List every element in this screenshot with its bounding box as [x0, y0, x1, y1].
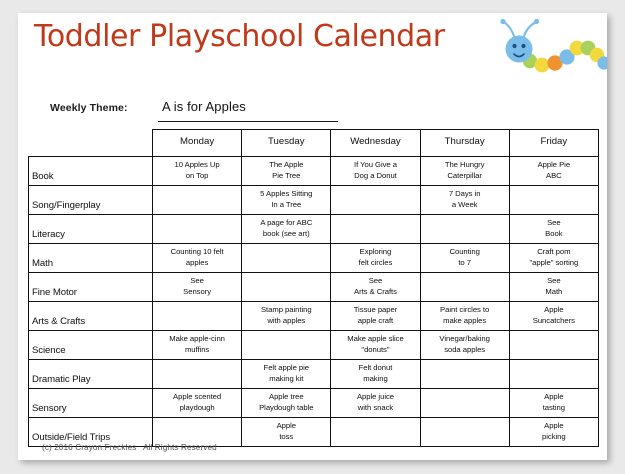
cell-line: Make apple-cinn — [155, 334, 239, 344]
calendar-cell[interactable]: Apple juicewith snack — [331, 388, 420, 417]
cell-line: See — [512, 276, 596, 286]
calendar-cell[interactable]: Stamp paintingwith apples — [242, 301, 331, 330]
calendar-cell[interactable]: Apple treePlaydough table — [242, 388, 331, 417]
weekly-theme-field[interactable]: A is for Apples — [158, 97, 338, 122]
row-label-science: Science — [29, 330, 153, 359]
calendar-header-tuesday: Tuesday — [242, 130, 331, 157]
calendar-cell[interactable]: Apple PieABC — [509, 156, 598, 185]
calendar-cell[interactable]: AppleSuncatchers — [509, 301, 598, 330]
cell-line: Pie Tree — [244, 171, 328, 181]
calendar-cell[interactable] — [153, 359, 242, 388]
cell-line: Book — [512, 229, 596, 239]
copyright-footer: (c) 2016 Crayon Freckles All Rights Rese… — [42, 443, 217, 452]
calendar-cell[interactable]: Tissue paperapple craft — [331, 301, 420, 330]
page-title: Toddler Playschool Calendar — [34, 19, 445, 54]
cell-line: Stamp painting — [244, 305, 328, 315]
table-row: Fine MotorSeeSensorySeeArts & CraftsSeeM… — [29, 272, 599, 301]
calendar-header-wednesday: Wednesday — [331, 130, 420, 157]
cell-line: A page for ABC — [244, 218, 328, 228]
cell-line: The Apple — [244, 160, 328, 170]
calendar-cell[interactable] — [242, 330, 331, 359]
calendar-cell[interactable] — [153, 417, 242, 446]
cell-line: felt circles — [333, 258, 417, 268]
cell-line: Apple — [244, 421, 328, 431]
row-label-dramatic-play: Dramatic Play — [29, 359, 153, 388]
calendar-cell[interactable]: SeeArts & Crafts — [331, 272, 420, 301]
cell-line: Caterpillar — [423, 171, 507, 181]
cell-line: Craft pom — [512, 247, 596, 257]
cell-line: Apple — [512, 392, 596, 402]
calendar-cell[interactable] — [509, 359, 598, 388]
weekly-theme-row: Weekly Theme: A is for Apples — [32, 97, 592, 125]
table-row: Book10 Apples Upon TopThe ApplePie TreeI… — [29, 156, 599, 185]
cell-line: Counting — [423, 247, 507, 257]
calendar-cell[interactable] — [331, 185, 420, 214]
row-label-math: Math — [29, 243, 153, 272]
table-row: Dramatic PlayFelt apple piemaking kitFel… — [29, 359, 599, 388]
cell-line: Math — [512, 287, 596, 297]
calendar-cell[interactable]: Craft pom"apple" sorting — [509, 243, 598, 272]
row-label-outside-field-trips: Outside/Field Trips — [29, 417, 153, 446]
calendar-cell[interactable]: Make apple-cinnmuffins — [153, 330, 242, 359]
calendar-cell[interactable] — [331, 417, 420, 446]
cell-line: apple craft — [333, 316, 417, 326]
cell-line: book (see art) — [244, 229, 328, 239]
cell-line: Vinegar/baking — [423, 334, 507, 344]
calendar-header-row: MondayTuesdayWednesdayThursdayFriday — [29, 130, 599, 157]
cell-line: Paint circles to — [423, 305, 507, 315]
calendar-cell[interactable]: Felt donutmaking — [331, 359, 420, 388]
cell-line: 5 Apples Sitting — [244, 189, 328, 199]
cell-line: making — [333, 374, 417, 384]
cell-line: muffins — [155, 345, 239, 355]
cell-line: See — [333, 276, 417, 286]
calendar-cell[interactable] — [153, 214, 242, 243]
cell-line: a Week — [423, 200, 507, 210]
row-label-song-fingerplay: Song/Fingerplay — [29, 185, 153, 214]
cell-line: The Hungry — [423, 160, 507, 170]
cell-line: making kit — [244, 374, 328, 384]
cell-line: toss — [244, 432, 328, 442]
calendar-cell[interactable]: Paint circles tomake apples — [420, 301, 509, 330]
calendar-header-thursday: Thursday — [420, 130, 509, 157]
calendar-cell[interactable]: Counting 10 feltapples — [153, 243, 242, 272]
table-row: Outside/Field TripsAppletossApplepicking — [29, 417, 599, 446]
calendar-cell[interactable] — [509, 330, 598, 359]
cell-line: Felt apple pie — [244, 363, 328, 373]
calendar-cell[interactable]: Appletoss — [242, 417, 331, 446]
calendar-cell[interactable]: SeeMath — [509, 272, 598, 301]
calendar-cell[interactable]: 5 Apples SittingIn a Tree — [242, 185, 331, 214]
cell-line: Apple — [512, 421, 596, 431]
cell-line: If You Give a — [333, 160, 417, 170]
calendar-cell[interactable] — [242, 243, 331, 272]
calendar-cell[interactable] — [242, 272, 331, 301]
weekly-theme-value: A is for Apples — [162, 99, 246, 114]
cell-line: soda apples — [423, 345, 507, 355]
calendar-cell[interactable]: Applepicking — [509, 417, 598, 446]
calendar-table-wrap: MondayTuesdayWednesdayThursdayFriday Boo… — [28, 129, 598, 447]
table-row: LiteracyA page for ABCbook (see art)SeeB… — [29, 214, 599, 243]
calendar-cell[interactable]: Vinegar/bakingsoda apples — [420, 330, 509, 359]
calendar-cell[interactable]: Apple scentedplaydough — [153, 388, 242, 417]
table-row: MathCounting 10 feltapplesExploringfelt … — [29, 243, 599, 272]
cell-line: Counting 10 felt — [155, 247, 239, 257]
calendar-cell[interactable]: A page for ABCbook (see art) — [242, 214, 331, 243]
row-label-book: Book — [29, 156, 153, 185]
caterpillar-icon — [494, 17, 607, 75]
cell-line: Apple tree — [244, 392, 328, 402]
cell-line: Suncatchers — [512, 316, 596, 326]
cell-line: Tissue paper — [333, 305, 417, 315]
table-row: Song/Fingerplay5 Apples SittingIn a Tree… — [29, 185, 599, 214]
row-label-fine-motor: Fine Motor — [29, 272, 153, 301]
calendar-header-monday: Monday — [153, 130, 242, 157]
cell-line: Apple Pie — [512, 160, 596, 170]
calendar-cell[interactable] — [509, 185, 598, 214]
table-row: SensoryApple scentedplaydoughApple treeP… — [29, 388, 599, 417]
calendar-cell[interactable]: Appletasting — [509, 388, 598, 417]
calendar-cell[interactable]: Felt apple piemaking kit — [242, 359, 331, 388]
calendar-header-friday: Friday — [509, 130, 598, 157]
calendar-cell[interactable] — [420, 272, 509, 301]
header-corner-cell — [29, 130, 153, 157]
row-label-sensory: Sensory — [29, 388, 153, 417]
cell-line: Apple scented — [155, 392, 239, 402]
calendar-cell[interactable] — [331, 214, 420, 243]
title-bar: Toddler Playschool Calendar — [18, 13, 607, 75]
cell-line: ABC — [512, 171, 596, 181]
cell-line: See — [512, 218, 596, 228]
cell-line: tasting — [512, 403, 596, 413]
calendar-cell[interactable]: Countingto 7 — [420, 243, 509, 272]
cell-line: Apple — [512, 305, 596, 315]
cell-line: Felt donut — [333, 363, 417, 373]
calendar-cell[interactable]: Exploringfelt circles — [331, 243, 420, 272]
cell-line: Sensory — [155, 287, 239, 297]
calendar-cell[interactable]: Make apple slice"donuts" — [331, 330, 420, 359]
cell-line: Playdough table — [244, 403, 328, 413]
table-row: ScienceMake apple-cinnmuffinsMake apple … — [29, 330, 599, 359]
cell-line: 7 Days in — [423, 189, 507, 199]
row-label-arts-crafts: Arts & Crafts — [29, 301, 153, 330]
cell-line: with snack — [333, 403, 417, 413]
calendar-table: MondayTuesdayWednesdayThursdayFriday Boo… — [28, 129, 599, 447]
calendar-cell[interactable]: 7 Days ina Week — [420, 185, 509, 214]
calendar-body: Book10 Apples Upon TopThe ApplePie TreeI… — [29, 156, 599, 446]
calendar-cell[interactable]: The ApplePie Tree — [242, 156, 331, 185]
cell-line: playdough — [155, 403, 239, 413]
calendar-cell[interactable] — [153, 301, 242, 330]
cell-line: apples — [155, 258, 239, 268]
weekly-theme-label: Weekly Theme: — [50, 102, 128, 114]
calendar-cell[interactable]: SeeBook — [509, 214, 598, 243]
calendar-cell[interactable]: 10 Apples Upon Top — [153, 156, 242, 185]
calendar-page: Toddler Playschool Calendar Weekly Theme… — [18, 13, 607, 460]
cell-line: See — [155, 276, 239, 286]
calendar-cell[interactable] — [420, 388, 509, 417]
calendar-cell[interactable]: The HungryCaterpillar — [420, 156, 509, 185]
cell-line: make apples — [423, 316, 507, 326]
calendar-cell[interactable] — [153, 185, 242, 214]
cell-line: with apples — [244, 316, 328, 326]
calendar-cell[interactable] — [420, 417, 509, 446]
cell-line: Exploring — [333, 247, 417, 257]
cell-line: Dog a Donut — [333, 171, 417, 181]
calendar-cell[interactable]: If You Give aDog a Donut — [331, 156, 420, 185]
cell-line: Arts & Crafts — [333, 287, 417, 297]
cell-line: 10 Apples Up — [155, 160, 239, 170]
cell-line: Make apple slice — [333, 334, 417, 344]
cell-line: on Top — [155, 171, 239, 181]
table-row: Arts & CraftsStamp paintingwith applesTi… — [29, 301, 599, 330]
cell-line: Apple juice — [333, 392, 417, 402]
cell-line: "apple" sorting — [512, 258, 596, 268]
calendar-cell[interactable] — [420, 214, 509, 243]
row-label-literacy: Literacy — [29, 214, 153, 243]
cell-line: to 7 — [423, 258, 507, 268]
calendar-cell[interactable] — [420, 359, 509, 388]
calendar-cell[interactable]: SeeSensory — [153, 272, 242, 301]
cell-line: In a Tree — [244, 200, 328, 210]
cell-line: picking — [512, 432, 596, 442]
cell-line: "donuts" — [333, 345, 417, 355]
